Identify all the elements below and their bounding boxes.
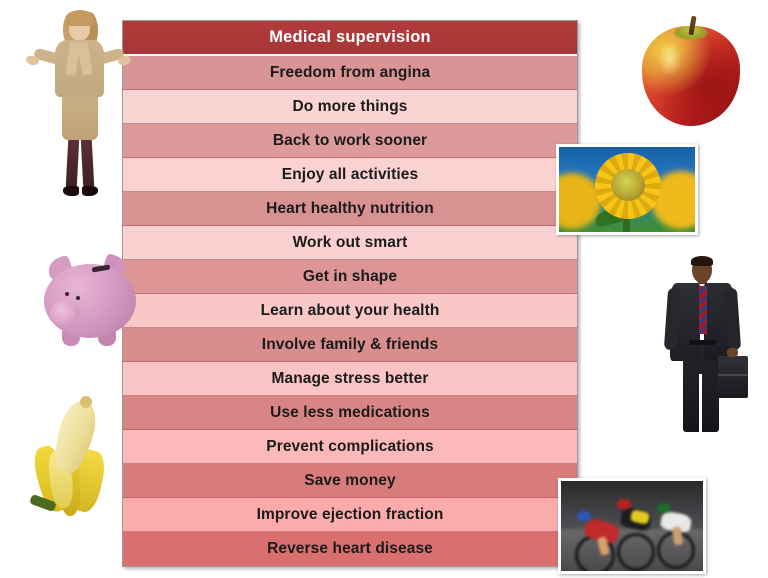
man-leg-gap [699, 374, 702, 432]
table-row-list: Freedom from anginaDo more thingsBack to… [123, 56, 577, 566]
table-row: Manage stress better [123, 362, 577, 396]
table-row-label: Work out smart [293, 234, 408, 252]
table-row-label: Back to work sooner [273, 132, 427, 150]
sunflower-photo [556, 144, 698, 235]
table-row-label: Involve family & friends [262, 336, 438, 354]
table-row-label: Heart healthy nutrition [266, 200, 434, 218]
man-belt [689, 340, 716, 345]
banana-photo [14, 392, 126, 518]
table-row-label: Freedom from angina [270, 64, 430, 82]
table-row-label: Enjoy all activities [282, 166, 418, 184]
table-row-label: Improve ejection fraction [257, 506, 444, 524]
table-row: Learn about your health [123, 294, 577, 328]
woman-shrugging-photo [22, 4, 134, 204]
table-row: Work out smart [123, 226, 577, 260]
man-necktie [699, 286, 707, 334]
table-row: Heart healthy nutrition [123, 192, 577, 226]
cyclists-motion-blur [561, 481, 703, 571]
table-row: Reverse heart disease [123, 532, 577, 566]
sunflower-center [611, 169, 645, 201]
apple-photo [636, 14, 746, 132]
woman-leg-left [66, 137, 80, 190]
table-row-label: Learn about your health [261, 302, 440, 320]
table-row: Enjoy all activities [123, 158, 577, 192]
table-row-label: Save money [304, 472, 395, 490]
table-row-label: Manage stress better [271, 370, 428, 388]
woman-skirt [62, 92, 98, 140]
table-header-title: Medical supervision [123, 21, 577, 56]
cyclists-photo [558, 478, 706, 574]
man-briefcase [718, 356, 748, 398]
woman-shoe-right [82, 186, 98, 196]
table-row: Prevent complications [123, 430, 577, 464]
piggy-bank-photo [36, 248, 146, 356]
table-row: Save money [123, 464, 577, 498]
benefits-table: Medical supervision Freedom from anginaD… [122, 20, 578, 567]
table-row: Use less medications [123, 396, 577, 430]
businessman-photo [648, 252, 752, 438]
woman-leg-right [81, 137, 95, 190]
table-row-label: Prevent complications [266, 438, 433, 456]
table-row: Get in shape [123, 260, 577, 294]
table-row-label: Use less medications [270, 404, 430, 422]
table-row: Do more things [123, 90, 577, 124]
man-hand [727, 348, 738, 357]
table-row: Freedom from angina [123, 56, 577, 90]
apple-body [642, 26, 740, 126]
piggy-eye-right [76, 296, 80, 300]
table-row: Back to work sooner [123, 124, 577, 158]
apple-highlight [658, 42, 682, 76]
woman-hair-top [66, 10, 94, 26]
table-row-label: Get in shape [303, 268, 397, 286]
table-row-label: Do more things [292, 98, 407, 116]
piggy-eye-left [65, 292, 69, 296]
man-briefcase-seam [718, 374, 748, 376]
table-row: Involve family & friends [123, 328, 577, 362]
table-row-label: Reverse heart disease [267, 540, 433, 558]
piggy-snout [50, 300, 80, 326]
table-row: Improve ejection fraction [123, 498, 577, 532]
man-hair [691, 256, 713, 266]
woman-shoe-left [63, 186, 79, 196]
